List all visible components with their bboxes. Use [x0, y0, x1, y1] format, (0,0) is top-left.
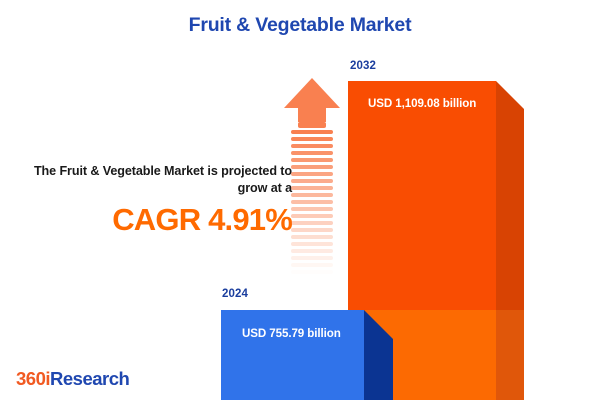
- brand-logo-name: Research: [50, 368, 129, 389]
- arrow-stripe: [291, 270, 333, 274]
- arrow-stripe: [291, 277, 333, 281]
- caption-text: The Fruit & Vegetable Market is projecte…: [24, 163, 292, 197]
- arrow-stripe: [291, 256, 333, 260]
- arrow-stripe: [291, 172, 333, 176]
- arrow-stripe: [291, 228, 333, 232]
- value-label-forecast: USD 1,109.08 billion: [368, 97, 476, 110]
- bar-base-side-face: [364, 310, 393, 400]
- brand-logo: 360iResearch: [16, 368, 129, 390]
- arrow-stripe: [291, 130, 333, 134]
- page-title: Fruit & Vegetable Market: [0, 14, 600, 37]
- value-label-base: USD 755.79 billion: [242, 327, 341, 340]
- arrow-stripe: [291, 186, 333, 190]
- arrow-stripe: [291, 137, 333, 141]
- growth-arrow-icon: [284, 78, 340, 290]
- arrow-stripe: [291, 263, 333, 267]
- arrow-stripe: [291, 242, 333, 246]
- arrow-stripe: [291, 193, 333, 197]
- arrow-stripe: [291, 221, 333, 225]
- year-label-forecast: 2032: [350, 60, 376, 72]
- arrow-stripe: [291, 249, 333, 253]
- bar-forecast-side-face: [496, 81, 524, 400]
- arrow-stripe: [291, 144, 333, 148]
- infographic-canvas: Fruit & Vegetable Market The Fruit & Veg…: [0, 0, 600, 400]
- arrow-head-icon: [284, 78, 340, 130]
- year-label-base: 2024: [222, 288, 248, 300]
- arrow-stripe: [291, 179, 333, 183]
- cagr-value: CAGR 4.91%: [24, 203, 292, 237]
- brand-logo-mark: 360i: [16, 368, 50, 389]
- arrow-stripe: [291, 200, 333, 204]
- arrow-gradient-stripes: [291, 130, 333, 290]
- arrow-stripe: [291, 214, 333, 218]
- caption-block: The Fruit & Vegetable Market is projecte…: [24, 163, 292, 237]
- arrow-stripe: [291, 235, 333, 239]
- arrow-stripe: [291, 151, 333, 155]
- bar-base-year: [221, 310, 393, 400]
- arrow-stripe: [291, 165, 333, 169]
- arrow-stripe: [291, 158, 333, 162]
- arrow-stripe: [291, 207, 333, 211]
- bar-base-front-face: [221, 310, 364, 400]
